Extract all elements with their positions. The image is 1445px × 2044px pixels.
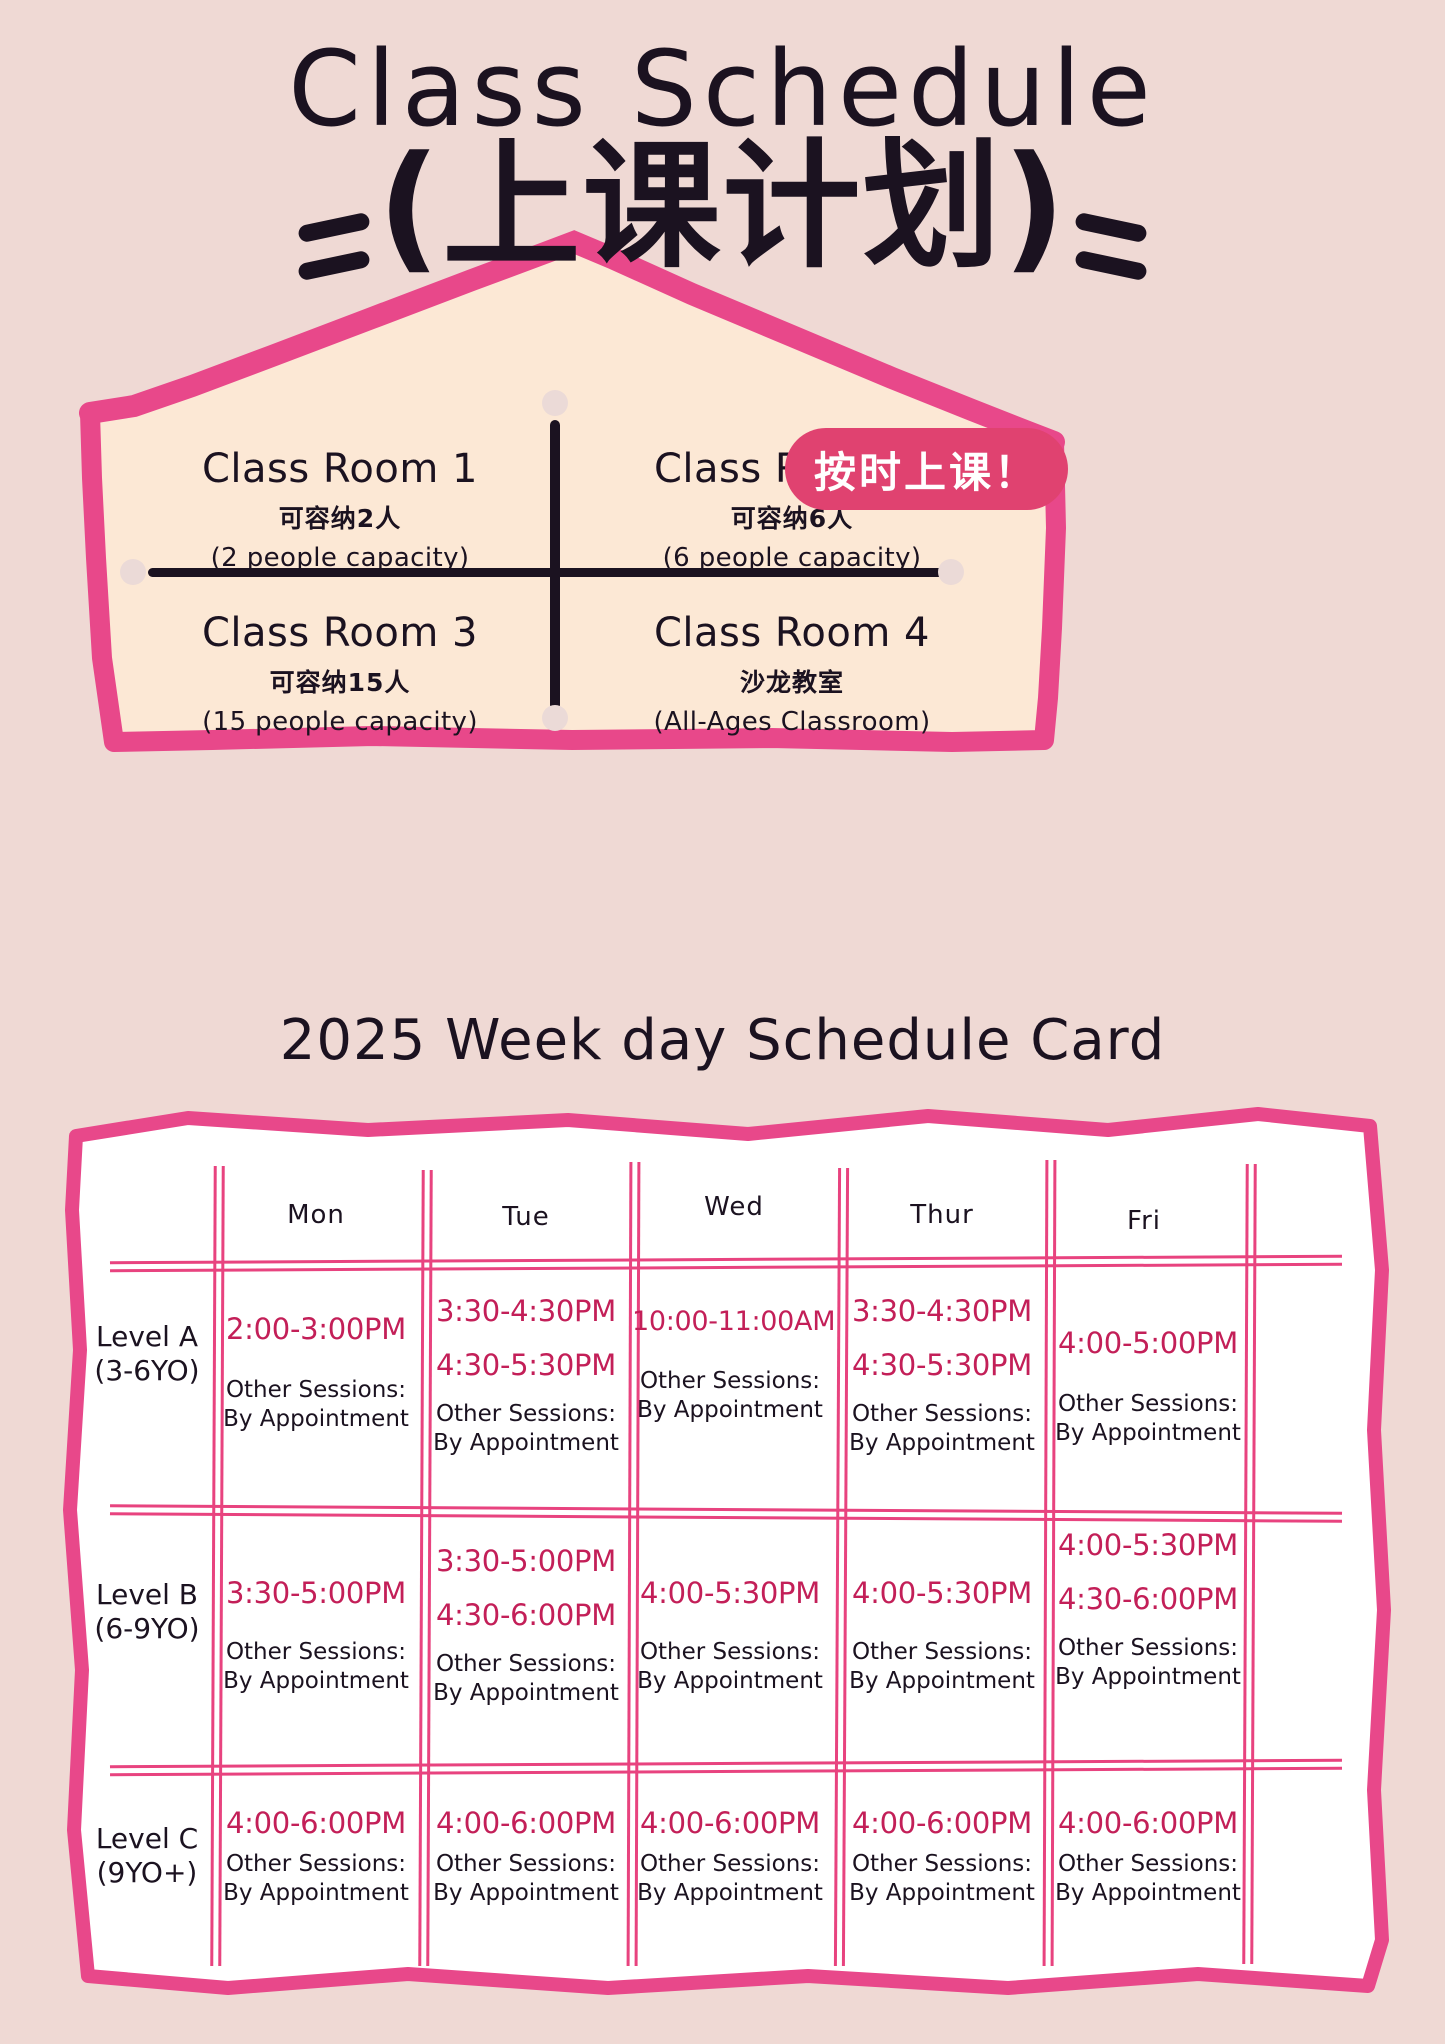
note-line-2: By Appointment	[1050, 1419, 1246, 1448]
row-b-level-ages: (6-9YO)	[72, 1612, 222, 1646]
cell-a-fri: 4:00-5:00PM Other Sessions: By Appointme…	[1050, 1322, 1246, 1448]
cell-b-tue-time-2: 4:30-6:00PM	[428, 1594, 624, 1636]
cell-c-thur-note: Other Sessions: By Appointment	[844, 1850, 1040, 1908]
title-chinese-row: (上课计划)	[0, 138, 1445, 283]
cell-b-mon: 3:30-5:00PM Other Sessions: By Appointme…	[218, 1572, 414, 1696]
cell-b-mon-note: Other Sessions: By Appointment	[218, 1638, 414, 1696]
cell-c-fri-note: Other Sessions: By Appointment	[1050, 1850, 1246, 1908]
row-a-level: Level A (3-6YO)	[72, 1320, 222, 1388]
note-line-1: Other Sessions:	[1050, 1850, 1246, 1879]
row-c-level-ages: (9YO+)	[72, 1856, 222, 1890]
classroom-4-name: Class Room 4	[572, 610, 1012, 656]
cell-a-thur-note: Other Sessions: By Appointment	[844, 1400, 1040, 1458]
classroom-card-3: Class Room 3 可容纳15人 (15 people capacity)	[120, 610, 560, 737]
classroom-1-name: Class Room 1	[120, 446, 560, 492]
classroom-3-name: Class Room 3	[120, 610, 560, 656]
note-line-2: By Appointment	[428, 1429, 624, 1458]
cell-a-mon: 2:00-3:00PM Other Sessions: By Appointme…	[218, 1308, 414, 1434]
classroom-card-4: Class Room 4 沙龙教室 (All-Ages Classroom)	[572, 610, 1012, 737]
note-line-2: By Appointment	[844, 1429, 1040, 1458]
cell-a-thur: 3:30-4:30PM 4:30-5:30PM Other Sessions: …	[844, 1290, 1040, 1458]
note-line-2: By Appointment	[218, 1667, 414, 1696]
cell-c-thur-time-1: 4:00-6:00PM	[844, 1802, 1040, 1844]
cell-b-fri-note: Other Sessions: By Appointment	[1050, 1634, 1246, 1692]
note-line-2: By Appointment	[1050, 1663, 1246, 1692]
cell-a-mon-note: Other Sessions: By Appointment	[218, 1376, 414, 1434]
note-line-2: By Appointment	[428, 1679, 624, 1708]
cell-a-fri-time-1: 4:00-5:00PM	[1050, 1322, 1246, 1364]
note-line-1: Other Sessions:	[1050, 1634, 1246, 1663]
cell-c-wed: 4:00-6:00PM Other Sessions: By Appointme…	[632, 1802, 828, 1908]
cell-b-fri-time-1: 4:00-5:30PM	[1050, 1524, 1246, 1566]
cell-a-thur-time-1: 3:30-4:30PM	[844, 1290, 1040, 1332]
cell-b-tue-time-1: 3:30-5:00PM	[428, 1540, 624, 1582]
note-line-1: Other Sessions:	[632, 1367, 828, 1396]
note-line-1: Other Sessions:	[844, 1400, 1040, 1429]
cell-c-mon: 4:00-6:00PM Other Sessions: By Appointme…	[218, 1802, 414, 1908]
note-line-1: Other Sessions:	[844, 1638, 1040, 1667]
table-header-thur: Thur	[862, 1200, 1022, 1230]
cell-b-thur: 4:00-5:30PM Other Sessions: By Appointme…	[844, 1572, 1040, 1696]
status-badge: 按时上课！	[785, 428, 1068, 510]
note-line-2: By Appointment	[218, 1405, 414, 1434]
schedule-heading: 2025 Week day Schedule Card	[0, 1008, 1445, 1073]
table-header-tue: Tue	[446, 1202, 606, 1232]
schedule-table: Mon Tue Wed Thur Fri Level A (3-6YO) 2:0…	[48, 1090, 1408, 2010]
row-a-level-name: Level A	[72, 1320, 222, 1354]
cell-c-fri: 4:00-6:00PM Other Sessions: By Appointme…	[1050, 1802, 1246, 1908]
cell-b-thur-note: Other Sessions: By Appointment	[844, 1638, 1040, 1696]
note-line-2: By Appointment	[632, 1667, 828, 1696]
cell-b-tue-note: Other Sessions: By Appointment	[428, 1650, 624, 1708]
note-line-2: By Appointment	[632, 1879, 828, 1908]
classroom-3-capacity-cn: 可容纳15人	[120, 663, 560, 699]
note-line-2: By Appointment	[844, 1879, 1040, 1908]
table-header-fri: Fri	[1064, 1206, 1224, 1236]
note-line-1: Other Sessions:	[218, 1850, 414, 1879]
cell-c-thur: 4:00-6:00PM Other Sessions: By Appointme…	[844, 1802, 1040, 1908]
note-line-1: Other Sessions:	[428, 1400, 624, 1429]
cell-b-wed-note: Other Sessions: By Appointment	[632, 1638, 828, 1696]
cell-c-mon-time-1: 4:00-6:00PM	[218, 1802, 414, 1844]
cell-b-fri-time-2: 4:30-6:00PM	[1050, 1578, 1246, 1620]
cell-a-tue-time-1: 3:30-4:30PM	[428, 1290, 624, 1332]
cell-b-wed: 4:00-5:30PM Other Sessions: By Appointme…	[632, 1572, 828, 1696]
cell-c-wed-note: Other Sessions: By Appointment	[632, 1850, 828, 1908]
classroom-1-capacity-en: (2 people capacity)	[120, 543, 560, 573]
note-line-1: Other Sessions:	[218, 1638, 414, 1667]
row-c-level: Level C (9YO+)	[72, 1822, 222, 1890]
note-line-1: Other Sessions:	[428, 1650, 624, 1679]
row-a-level-ages: (3-6YO)	[72, 1354, 222, 1388]
note-line-1: Other Sessions:	[844, 1850, 1040, 1879]
cell-c-fri-time-1: 4:00-6:00PM	[1050, 1802, 1246, 1844]
cell-c-mon-note: Other Sessions: By Appointment	[218, 1850, 414, 1908]
cell-c-tue-note: Other Sessions: By Appointment	[428, 1850, 624, 1908]
cell-a-wed-time-1: 10:00-11:00AM	[632, 1302, 828, 1341]
cell-b-tue: 3:30-5:00PM 4:30-6:00PM Other Sessions: …	[428, 1540, 624, 1708]
note-line-1: Other Sessions:	[218, 1376, 414, 1405]
note-line-2: By Appointment	[844, 1667, 1040, 1696]
status-badge-label: 按时上课！	[814, 439, 1039, 500]
cell-a-mon-time-1: 2:00-3:00PM	[218, 1308, 414, 1350]
cell-a-fri-note: Other Sessions: By Appointment	[1050, 1390, 1246, 1448]
note-line-2: By Appointment	[428, 1879, 624, 1908]
decor-ticks-right-icon	[1073, 211, 1149, 277]
note-line-1: Other Sessions:	[632, 1850, 828, 1879]
class-schedule-poster: Class Schedule (上课计划) 按时上课！ Class Room 1…	[0, 0, 1445, 2044]
classroom-4-capacity-en: (All-Ages Classroom)	[572, 707, 1012, 737]
classroom-4-capacity-cn: 沙龙教室	[572, 663, 1012, 699]
note-line-1: Other Sessions:	[1050, 1390, 1246, 1419]
note-line-2: By Appointment	[1050, 1879, 1246, 1908]
cell-a-tue: 3:30-4:30PM 4:30-5:30PM Other Sessions: …	[428, 1290, 624, 1458]
table-header-wed: Wed	[654, 1192, 814, 1222]
row-b-level-name: Level B	[72, 1578, 222, 1612]
cell-b-thur-time-1: 4:00-5:30PM	[844, 1572, 1040, 1614]
note-line-1: Other Sessions:	[428, 1850, 624, 1879]
cell-b-mon-time-1: 3:30-5:00PM	[218, 1572, 414, 1614]
cell-b-fri: 4:00-5:30PM 4:30-6:00PM Other Sessions: …	[1050, 1524, 1246, 1692]
classroom-2-capacity-en: (6 people capacity)	[572, 543, 1012, 573]
row-b-level: Level B (6-9YO)	[72, 1578, 222, 1646]
cell-a-wed-note: Other Sessions: By Appointment	[632, 1367, 828, 1425]
table-header-mon: Mon	[236, 1200, 396, 1230]
cell-c-wed-time-1: 4:00-6:00PM	[632, 1802, 828, 1844]
page-title-chinese: (上课计划)	[377, 138, 1067, 276]
note-line-2: By Appointment	[632, 1396, 828, 1425]
cell-a-tue-time-2: 4:30-5:30PM	[428, 1344, 624, 1386]
cell-a-wed: 10:00-11:00AM Other Sessions: By Appoint…	[632, 1302, 828, 1425]
cell-a-thur-time-2: 4:30-5:30PM	[844, 1344, 1040, 1386]
classroom-3-capacity-en: (15 people capacity)	[120, 707, 560, 737]
note-line-1: Other Sessions:	[632, 1638, 828, 1667]
cell-b-wed-time-1: 4:00-5:30PM	[632, 1572, 828, 1614]
row-c-level-name: Level C	[72, 1822, 222, 1856]
cell-c-tue-time-1: 4:00-6:00PM	[428, 1802, 624, 1844]
note-line-2: By Appointment	[218, 1879, 414, 1908]
classroom-card-1: Class Room 1 可容纳2人 (2 people capacity)	[120, 446, 560, 573]
decor-ticks-left-icon	[296, 211, 372, 277]
classroom-1-capacity-cn: 可容纳2人	[120, 499, 560, 535]
cell-a-tue-note: Other Sessions: By Appointment	[428, 1400, 624, 1458]
cell-c-tue: 4:00-6:00PM Other Sessions: By Appointme…	[428, 1802, 624, 1908]
